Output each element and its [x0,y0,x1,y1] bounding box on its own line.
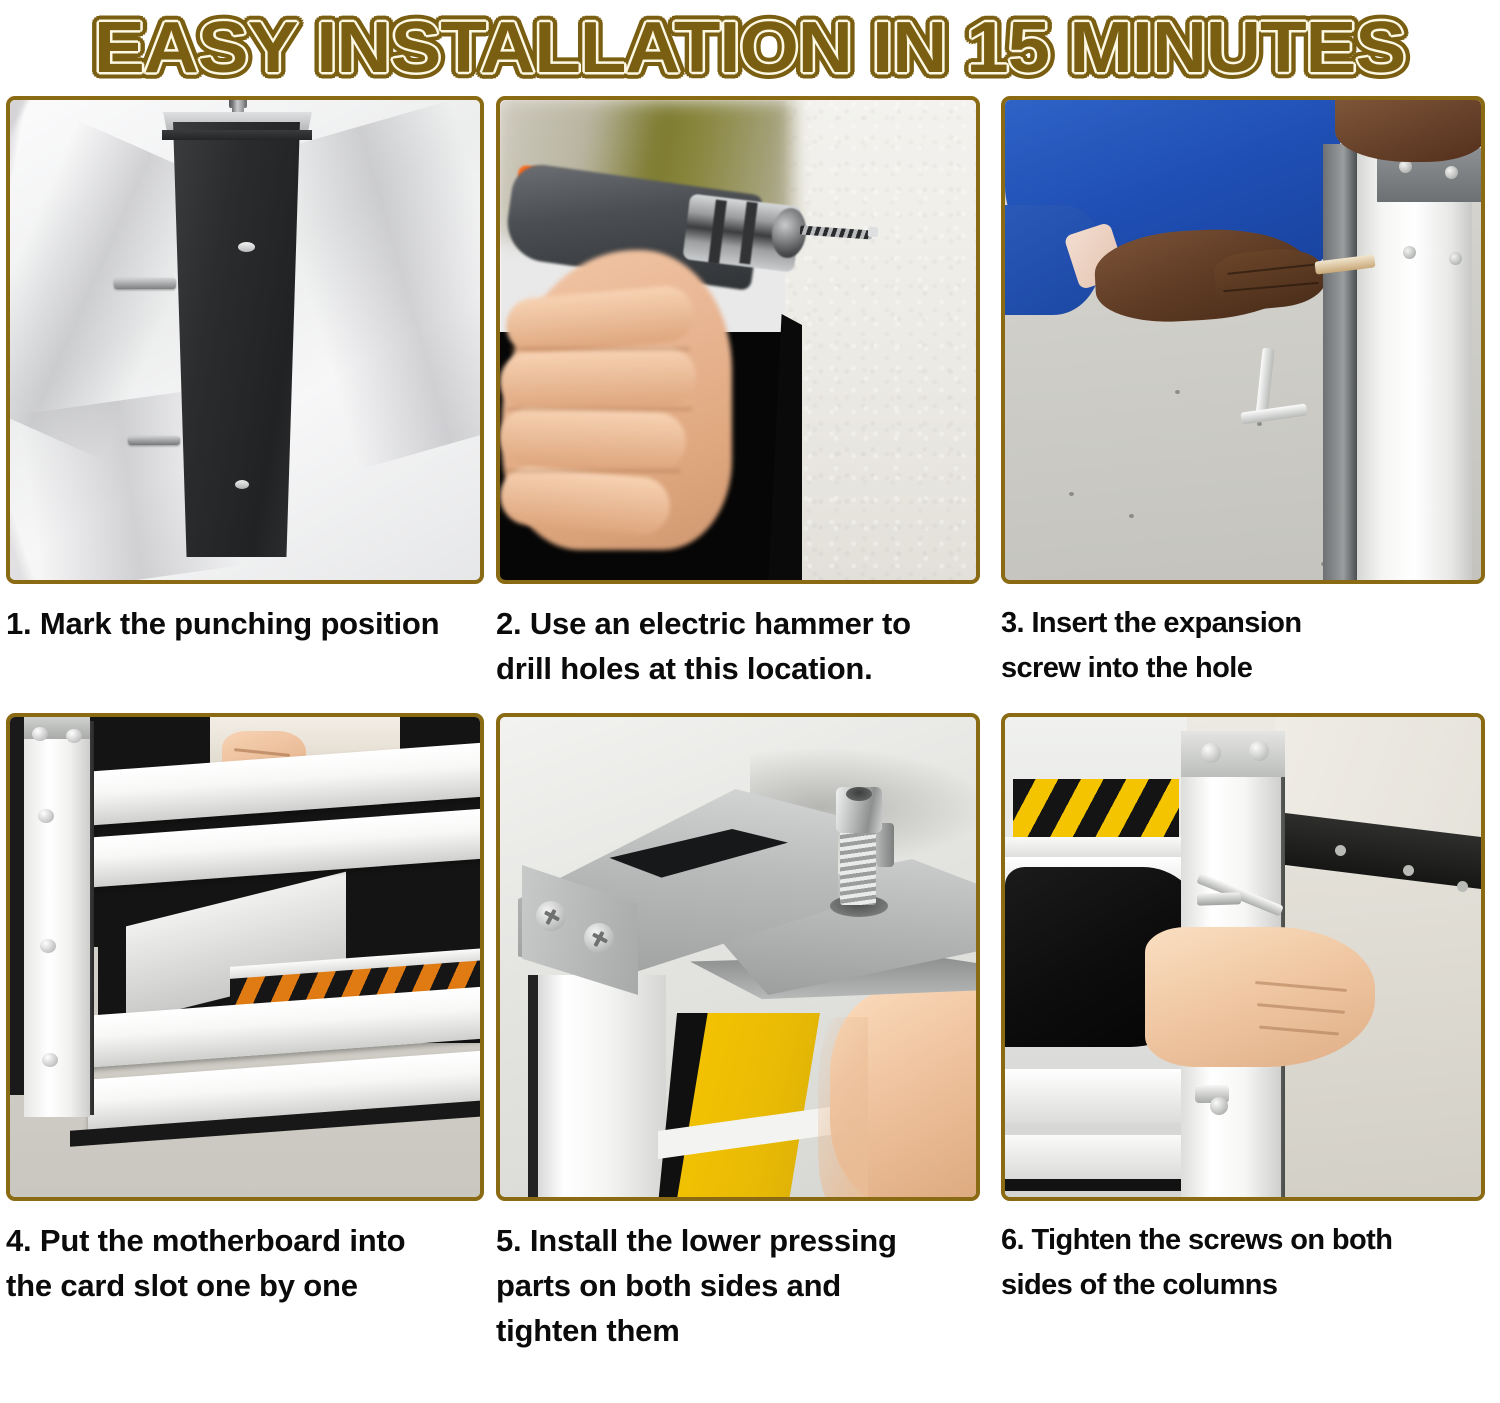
caption-line: sides of the columns [1001,1263,1471,1308]
caption-line: screw into the hole [1001,646,1471,691]
column-top-plate [1181,731,1285,777]
step-card-3: 3. Insert the expansion screw into the h… [1001,96,1500,691]
base-screw [1403,865,1414,876]
step-caption-2: 2. Use an electric hammer to drill holes… [496,601,966,691]
step-caption-1: 1. Mark the punching position [6,601,476,646]
bolt-socket-hole [846,787,872,801]
scene-drill-holes [500,100,976,580]
step-image-6 [1001,713,1485,1201]
hex-wrench-head [1197,892,1241,906]
column-dark-edge [528,975,538,1197]
column-screw [32,727,48,741]
floor-speck [1069,492,1074,496]
step-caption-4: 4. Put the motherboard into the card slo… [6,1218,476,1308]
step-card-6: 6. Tighten the screws on both sides of t… [1001,713,1500,1353]
step-caption-6: 6. Tighten the screws on both sides of t… [1001,1218,1471,1308]
finger [500,347,697,412]
step-image-5 [496,713,980,1201]
step-card-1: 1. Mark the punching position [6,96,496,691]
finger-crease [506,408,692,410]
scene-insert-expansion-screw [1005,100,1481,580]
scene-mark-punching-position [10,100,480,580]
step-image-1 [6,96,484,584]
step-card-4: 4. Put the motherboard into the card slo… [6,713,496,1353]
floor-speck [1129,514,1134,518]
caption-line: tighten them [496,1308,966,1353]
caption-line: 4. Put the motherboard into [6,1218,476,1263]
drill-bit-tip [868,227,879,238]
caption-line: the card slot one by one [6,1263,476,1308]
column-screw [1201,743,1221,763]
white-column [1357,138,1472,580]
scene-tighten-screws [1005,717,1481,1197]
lower-screw-head [1210,1097,1228,1115]
page-title: EASY INSTALLATION IN 15 MINUTES [94,12,1405,84]
hand [1145,927,1375,1067]
column-screw [1249,741,1269,761]
floor-speck [1257,422,1262,426]
board-white-strip [1005,837,1187,859]
upper-mounting-hole [238,242,255,252]
caption-line: 2. Use an electric hammer to [496,601,966,646]
lower-expansion-screw [128,436,180,445]
threaded-bolt [840,823,876,905]
base-screw [1335,845,1346,856]
scene-lower-pressing-parts [500,717,976,1197]
caption-line: drill holes at this location. [496,646,966,691]
step-card-5: 5. Install the lower pressing parts on b… [496,713,1001,1353]
column-screw [42,1053,58,1067]
upper-expansion-screw [114,278,176,289]
step-image-2 [496,96,980,584]
plate-screw [1445,166,1458,179]
hazard-stripe-panel [1013,779,1179,841]
column-cap-edge [162,130,312,140]
header-banner: EASY INSTALLATION IN 15 MINUTES [0,0,1500,96]
caption-line: parts on both sides and [496,1263,966,1308]
caption-line: 5. Install the lower pressing [496,1218,966,1263]
plate-screw [1403,246,1416,259]
step-caption-3: 3. Insert the expansion screw into the h… [1001,601,1471,691]
white-column [528,975,666,1197]
step-image-4 [6,713,484,1201]
column-dark-edge [1323,144,1357,580]
lower-mounting-hole [235,480,249,489]
ground-seal-line [1005,1179,1187,1191]
finger [500,407,687,471]
hand-edge [818,1017,868,1197]
plate-screw [1449,252,1462,265]
caption-line: 3. Insert the expansion [1001,601,1471,646]
barrier-board [1005,1135,1187,1185]
scene-insert-boards [10,717,480,1197]
caption-line: 6. Tighten the screws on both [1001,1218,1471,1263]
caption-line: 1. Mark the punching position [6,601,476,646]
floor-speck [1175,390,1180,394]
base-screw [1457,881,1468,892]
textured-wall [785,100,976,580]
steps-grid: 1. Mark the punching position [0,96,1500,1353]
barrier-board [1005,1069,1187,1123]
finger-crease [510,348,690,350]
column-screw [40,939,56,953]
mounting-column [169,122,304,557]
step-image-3 [1001,96,1485,584]
finger-crease [504,470,680,472]
column-screw [38,809,54,823]
second-hand [1335,100,1481,162]
step-caption-5: 5. Install the lower pressing parts on b… [496,1218,966,1353]
step-card-2: 2. Use an electric hammer to drill holes… [496,96,1001,691]
column-screw [66,729,82,743]
